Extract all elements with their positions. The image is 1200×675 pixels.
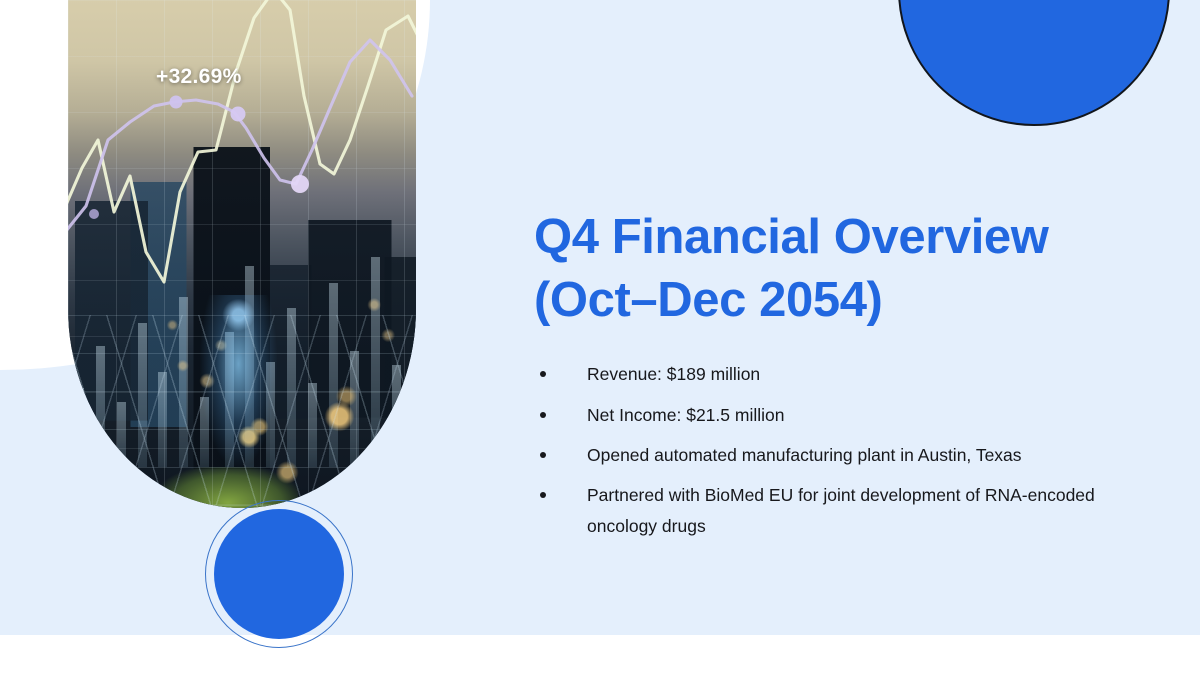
content-column: Q4 Financial Overview (Oct–Dec 2054) Rev… xyxy=(534,206,1134,551)
background-white-footer-strip xyxy=(0,635,1200,675)
page-title: Q4 Financial Overview (Oct–Dec 2054) xyxy=(534,206,1134,331)
photo-chart-lines-overlay xyxy=(68,0,416,508)
bullet-dot-icon xyxy=(540,452,546,458)
hero-photo-arch: +32.69% xyxy=(68,0,416,508)
list-item-label: Opened automated manufacturing plant in … xyxy=(587,445,1022,465)
decorative-circle-bottom-left xyxy=(214,509,344,639)
list-item-label: Revenue: $189 million xyxy=(587,364,760,384)
list-item: Opened automated manufacturing plant in … xyxy=(534,440,1134,471)
highlights-bullet-list: Revenue: $189 million Net Income: $21.5 … xyxy=(534,359,1134,542)
photo-percentage-label: +32.69% xyxy=(156,65,242,89)
list-item: Partnered with BioMed EU for joint devel… xyxy=(534,480,1134,542)
bullet-dot-icon xyxy=(540,371,546,377)
list-item-label: Net Income: $21.5 million xyxy=(587,405,784,425)
page-title-line-1: Q4 Financial Overview xyxy=(534,206,1134,269)
bullet-dot-icon xyxy=(540,492,546,498)
list-item: Net Income: $21.5 million xyxy=(534,400,1134,431)
bullet-dot-icon xyxy=(540,412,546,418)
slide-canvas: +32.69% Q4 Financial Overview (Oct–Dec 2… xyxy=(0,0,1200,675)
list-item-label: Partnered with BioMed EU for joint devel… xyxy=(587,485,1095,536)
list-item: Revenue: $189 million xyxy=(534,359,1134,390)
page-title-line-2: (Oct–Dec 2054) xyxy=(534,269,1134,332)
